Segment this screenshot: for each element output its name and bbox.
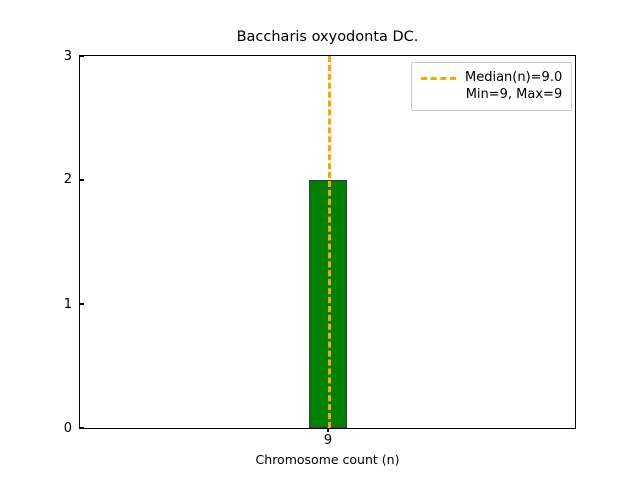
y-tick-label: 1: [64, 296, 72, 313]
y-tick-mark: [80, 179, 84, 180]
y-tick-label: 2: [64, 171, 72, 188]
y-tick-label: 0: [64, 420, 72, 437]
legend[interactable]: Median(n)=9.0 Min=9, Max=9: [411, 62, 572, 111]
legend-label-median: Median(n)=9.0: [465, 69, 562, 86]
legend-dashed-line-icon: [421, 69, 456, 86]
plot-area: 0 1 2 3 9: [79, 55, 576, 429]
y-tick-mark: [80, 55, 84, 56]
y-tick-mark: [80, 427, 84, 428]
x-tick-label: 9: [324, 433, 332, 449]
chart-title: Baccharis oxyodonta DC.: [79, 29, 576, 46]
figure-canvas: Baccharis oxyodonta DC. 0 1 2 3: [0, 0, 640, 480]
y-tick-mark: [80, 303, 84, 304]
plot-inner: 0 1 2 3 9: [80, 56, 575, 428]
y-tick-label: 3: [64, 48, 72, 65]
x-axis-label: Chromosome count (n): [79, 452, 576, 468]
legend-label-minmax: Min=9, Max=9: [466, 86, 563, 103]
legend-dash: [421, 77, 456, 80]
legend-text-block: Median(n)=9.0 Min=9, Max=9: [465, 69, 562, 103]
x-tick-mark: [327, 428, 328, 432]
median-line: [328, 56, 331, 428]
